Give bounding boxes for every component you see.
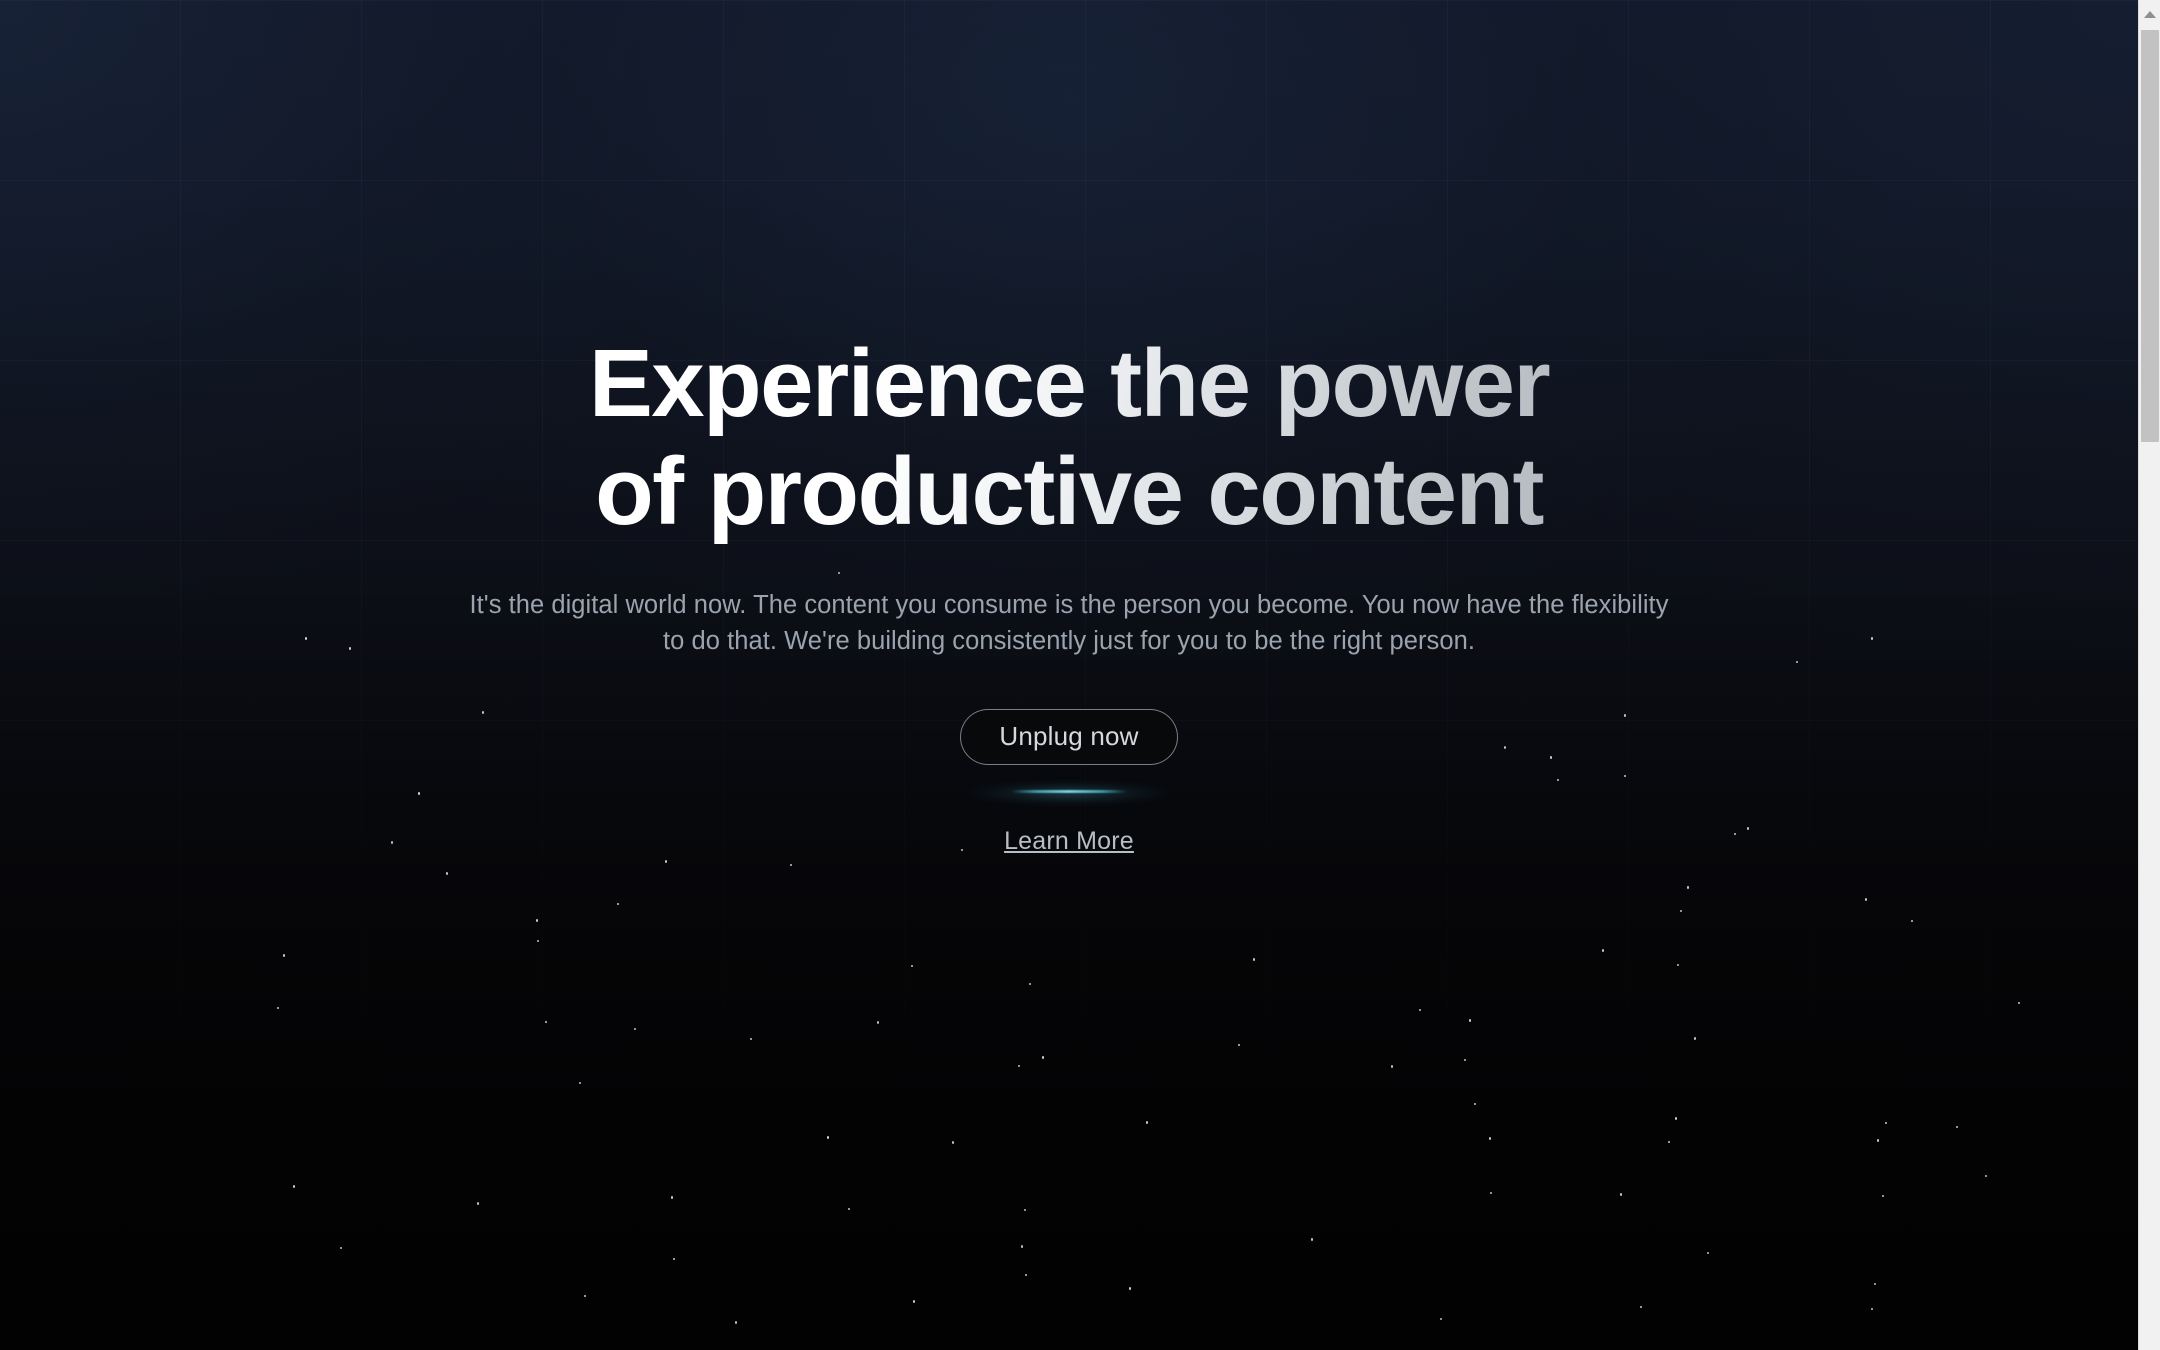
hero-cta-group: Unplug now Learn More — [960, 709, 1177, 856]
page-title-line-2: of productive content — [595, 438, 1543, 545]
browser-page: Experience the power of productive conte… — [0, 0, 2160, 1350]
scrollbar-thumb[interactable] — [2141, 30, 2159, 442]
hero-section: Experience the power of productive conte… — [0, 0, 2138, 1350]
cta-glow-line — [1011, 790, 1127, 793]
page-viewport: Experience the power of productive conte… — [0, 0, 2138, 1350]
chevron-up-icon — [2144, 11, 2156, 18]
page-title-line-1: Experience the power — [589, 330, 1549, 437]
learn-more-link[interactable]: Learn More — [1004, 827, 1134, 856]
page-title: Experience the power of productive conte… — [419, 330, 1719, 547]
scroll-up-button[interactable] — [2139, 0, 2160, 28]
hero-subtitle: It's the digital world now. The content … — [464, 587, 1674, 659]
cta-glow-halo — [964, 783, 1174, 803]
vertical-scrollbar[interactable] — [2138, 0, 2160, 1350]
unplug-now-button[interactable]: Unplug now — [960, 709, 1177, 765]
